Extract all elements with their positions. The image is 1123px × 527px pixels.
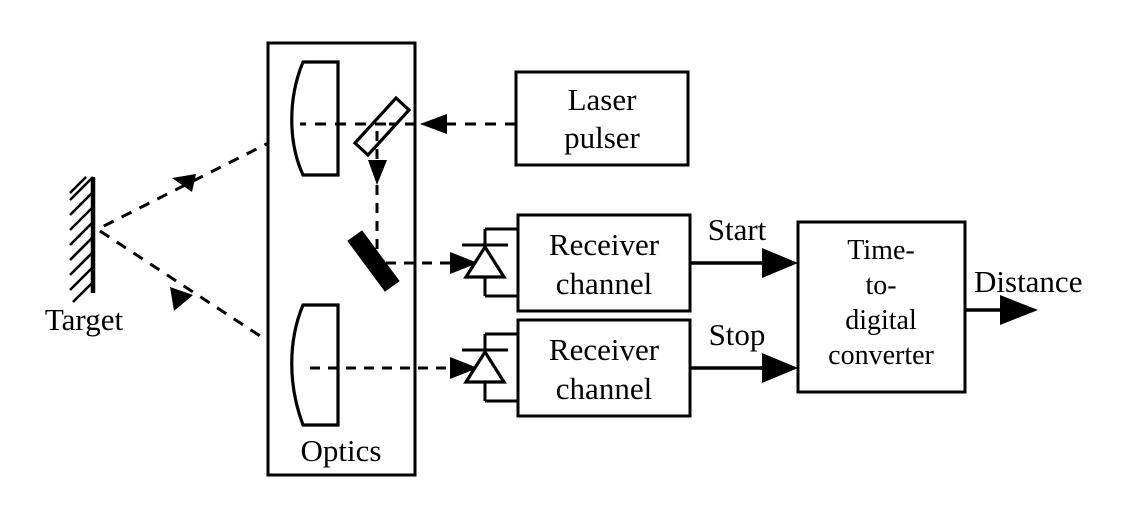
target-label: Target (45, 302, 124, 337)
laser-pulser-block: Laser pulser (516, 72, 688, 165)
distance-output-arrowhead (1000, 295, 1038, 325)
lens-lower (292, 305, 338, 425)
receiver-stop-line-1: Receiver (549, 332, 660, 367)
start-signal-arrow (690, 248, 798, 278)
receiver-channel-stop-block: Receiver channel (518, 320, 690, 416)
start-label: Start (708, 212, 767, 247)
receiver-stop-line-2: channel (556, 371, 652, 406)
stop-signal-arrow (690, 353, 798, 383)
stop-label: Stop (709, 317, 766, 352)
start-signal-arrowhead (762, 248, 798, 278)
tdc-line-1: Time- (847, 235, 914, 266)
distance-label: Distance (974, 264, 1082, 299)
distance-output-arrow (965, 295, 1038, 325)
receiver-channel-start-block: Receiver channel (518, 215, 690, 311)
optics-label: Optics (301, 433, 382, 468)
diagram-canvas: Target Optics (0, 0, 1123, 527)
time-to-digital-converter-block: Time- to- digital converter (798, 222, 965, 392)
laser-pulser-line-2: pulser (564, 120, 640, 155)
lens-upper (292, 62, 338, 175)
receiver-start-line-1: Receiver (549, 227, 660, 262)
tdc-line-3: digital (845, 305, 917, 336)
tdc-line-2: to- (865, 270, 896, 301)
stop-signal-arrowhead (762, 353, 798, 383)
rangefinder-diagram: Target Optics (0, 0, 1123, 527)
laser-beam-arrowhead (420, 114, 447, 134)
laser-pulser-line-1: Laser (568, 82, 638, 117)
tdc-line-4: converter (828, 340, 934, 371)
receiver-start-line-2: channel (556, 266, 652, 301)
target-wall (70, 177, 93, 302)
